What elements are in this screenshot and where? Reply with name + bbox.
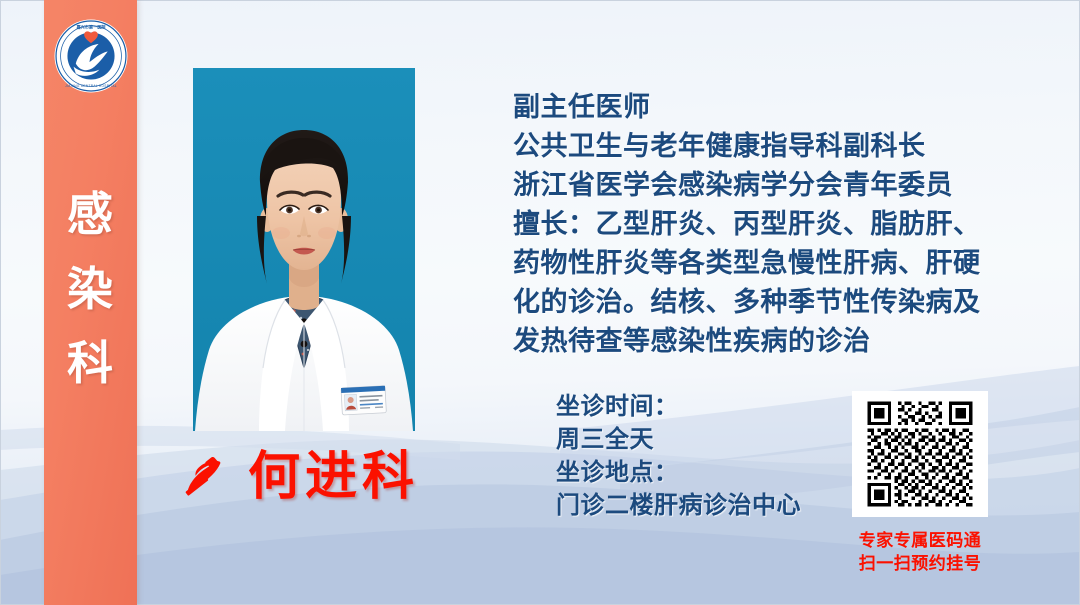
- credential-line: 公共卫生与老年健康指导科副科长: [513, 127, 1013, 166]
- doctor-credentials: 副主任医师 公共卫生与老年健康指导科副科长 浙江省医学会感染病学分会青年委员 擅…: [513, 88, 1013, 361]
- credential-line: 化的诊治。结核、多种季节性传染病及: [513, 283, 1013, 322]
- department-char-2: 染: [44, 253, 137, 328]
- doctor-name: 何进科: [248, 452, 419, 504]
- doctor-name-row: 何进科: [176, 450, 419, 506]
- qr-caption: 专家专属医码通 扫一扫预约挂号: [852, 529, 988, 575]
- doctor-photo: [193, 68, 415, 431]
- credential-line: 副主任医师: [513, 88, 1013, 127]
- credential-line: 浙江省医学会感染病学分会青年委员: [513, 166, 1013, 205]
- credential-line: 药物性肝炎等各类型急慢性肝病、肝硬: [513, 244, 1013, 283]
- doctor-intro-poster: 感 染 科 嘉兴市第一医院 JIAXING CENTRAL HOSPITAL: [0, 0, 1080, 605]
- credential-line: 发热待查等感染性疾病的诊治: [513, 322, 1013, 361]
- qr-code-icon: [864, 398, 976, 510]
- clinic-schedule: 坐诊时间： 周三全天 坐诊地点： 门诊二楼肝病诊治中心: [556, 391, 801, 523]
- department-label: 感 染 科: [44, 178, 137, 402]
- qr-appointment-block: 专家专属医码通 扫一扫预约挂号: [852, 391, 988, 575]
- qr-caption-line-2: 扫一扫预约挂号: [852, 552, 988, 575]
- hospital-logo-icon: 嘉兴市第一医院 JIAXING CENTRAL HOSPITAL: [53, 18, 129, 94]
- credential-line: 擅长：乙型肝炎、丙型肝炎、脂肪肝、: [513, 205, 1013, 244]
- schedule-time-value: 周三全天: [556, 424, 801, 457]
- department-char-3: 科: [44, 327, 137, 402]
- svg-text:JIAXING CENTRAL HOSPITAL: JIAXING CENTRAL HOSPITAL: [65, 84, 117, 88]
- qr-code-card[interactable]: [852, 391, 988, 517]
- svg-text:嘉兴市第一医院: 嘉兴市第一医院: [75, 24, 106, 30]
- department-char-1: 感: [44, 178, 137, 253]
- schedule-time-label: 坐诊时间：: [556, 391, 801, 424]
- schedule-place-label: 坐诊地点：: [556, 457, 801, 490]
- schedule-place-value: 门诊二楼肝病诊治中心: [556, 490, 801, 523]
- qr-caption-line-1: 专家专属医码通: [852, 529, 988, 552]
- cpc-hammer-sickle-icon: [176, 450, 232, 506]
